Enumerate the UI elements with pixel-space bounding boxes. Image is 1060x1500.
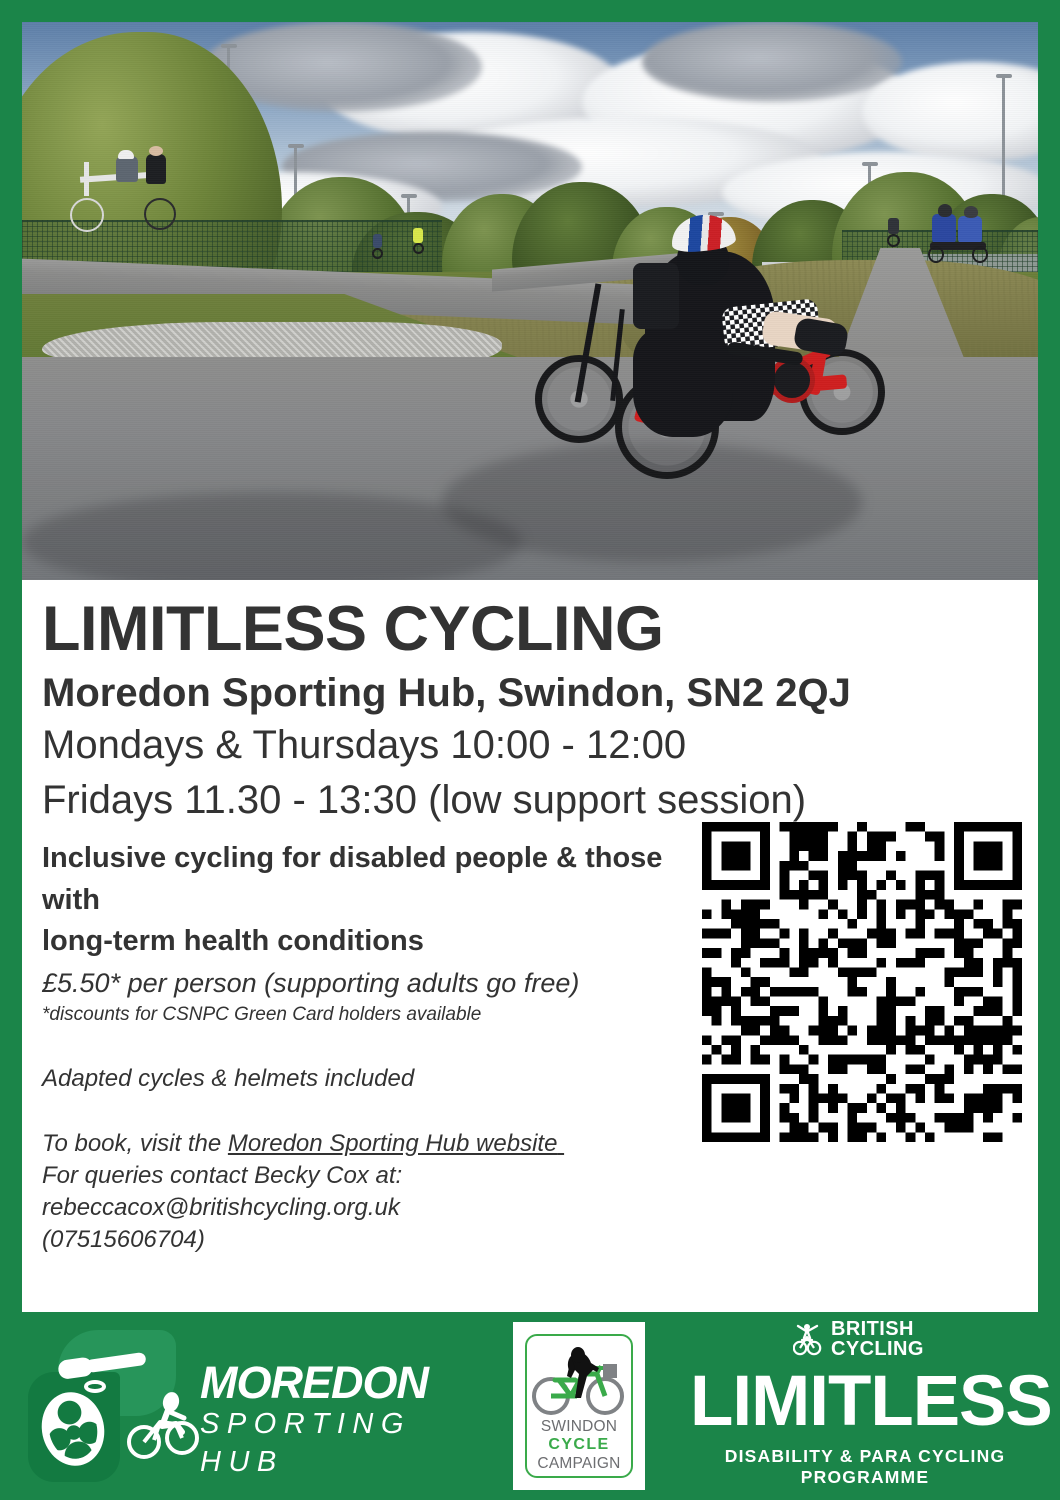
limitless-programme-title: LIMITLESS bbox=[690, 1366, 1040, 1437]
poster-body: LIMITLESS CYCLING Moredon Sporting Hub, … bbox=[22, 580, 1038, 1312]
swindon-line-1: SWINDON bbox=[527, 1418, 631, 1436]
cycling-track-photo bbox=[22, 22, 1038, 580]
distant-cyclist bbox=[410, 228, 428, 258]
moredon-name: MOREDON bbox=[200, 1360, 470, 1405]
distant-trike bbox=[884, 218, 904, 250]
cyclist-icon bbox=[124, 1388, 202, 1460]
moredon-tagline: SPORTING HUB bbox=[200, 1405, 470, 1482]
phone-number[interactable]: (07515606704) bbox=[42, 1224, 682, 1256]
booking-line: To book, visit the Moredon Sporting Hub … bbox=[42, 1128, 682, 1160]
discount-note: *discounts for CSNPC Green Card holders … bbox=[42, 1002, 682, 1029]
duo-trike-right bbox=[928, 200, 990, 266]
duo-bike-left bbox=[64, 150, 192, 232]
strapline-line-1: Inclusive cycling for disabled people & … bbox=[42, 838, 682, 922]
swindon-line-3: CAMPAIGN bbox=[527, 1455, 631, 1473]
session-times-1: Mondays & Thursdays 10:00 - 12:00 bbox=[42, 718, 1018, 773]
queries-line: For queries contact Becky Cox at: bbox=[42, 1160, 682, 1192]
price-line: £5.50* per person (supporting adults go … bbox=[42, 965, 682, 1002]
booking-prefix: To book, visit the bbox=[42, 1130, 228, 1157]
limitless-programme-subtitle: DISABILITY & PARA CYCLING PROGRAMME bbox=[690, 1446, 1040, 1488]
booking-qr-code[interactable] bbox=[702, 822, 1022, 1142]
venue-line: Moredon Sporting Hub, Swindon, SN2 2QJ bbox=[42, 669, 1018, 718]
cycling-word: CYCLING bbox=[831, 1340, 924, 1360]
booking-block: To book, visit the Moredon Sporting Hub … bbox=[42, 1128, 682, 1257]
british-cycling-rider-icon bbox=[793, 1323, 825, 1357]
moredon-wordmark: MOREDON SPORTING HUB bbox=[200, 1360, 470, 1482]
moredon-website-link[interactable]: Moredon Sporting Hub website bbox=[228, 1130, 558, 1157]
british-word: BRITISH bbox=[831, 1320, 924, 1340]
strapline-line-2: long-term health conditions bbox=[42, 921, 682, 963]
footer-logos: MOREDON SPORTING HUB bbox=[0, 1312, 1060, 1500]
moredon-cube-logo bbox=[28, 1330, 188, 1485]
recumbent-trike-foreground bbox=[527, 197, 887, 487]
page-title: LIMITLESS CYCLING bbox=[42, 596, 1018, 663]
british-cycling-limitless-logo: BRITISH CYCLING LIMITLESS DISABILITY & P… bbox=[690, 1320, 1040, 1496]
swindon-card-border: SWINDON CYCLE CAMPAIGN bbox=[525, 1334, 633, 1478]
email-address[interactable]: rebeccacox@britishcycling.org.uk bbox=[42, 1192, 682, 1224]
distant-cyclist bbox=[370, 234, 386, 260]
british-cycling-lockup: BRITISH CYCLING bbox=[793, 1320, 924, 1360]
equipment-note: Adapted cycles & helmets included bbox=[42, 1063, 682, 1094]
swindon-line-2: CYCLE bbox=[527, 1436, 631, 1454]
british-cycling-words: BRITISH CYCLING bbox=[831, 1320, 924, 1360]
swindon-cycle-campaign-logo: SWINDON CYCLE CAMPAIGN bbox=[513, 1322, 645, 1490]
cloud bbox=[642, 22, 902, 102]
cyclist-on-bicycle-icon bbox=[531, 1346, 631, 1418]
session-times-2: Fridays 11.30 - 13:30 (low support sessi… bbox=[42, 773, 1018, 828]
poster: LIMITLESS CYCLING Moredon Sporting Hub, … bbox=[0, 0, 1060, 1500]
cricket-ball-icon bbox=[84, 1380, 106, 1393]
